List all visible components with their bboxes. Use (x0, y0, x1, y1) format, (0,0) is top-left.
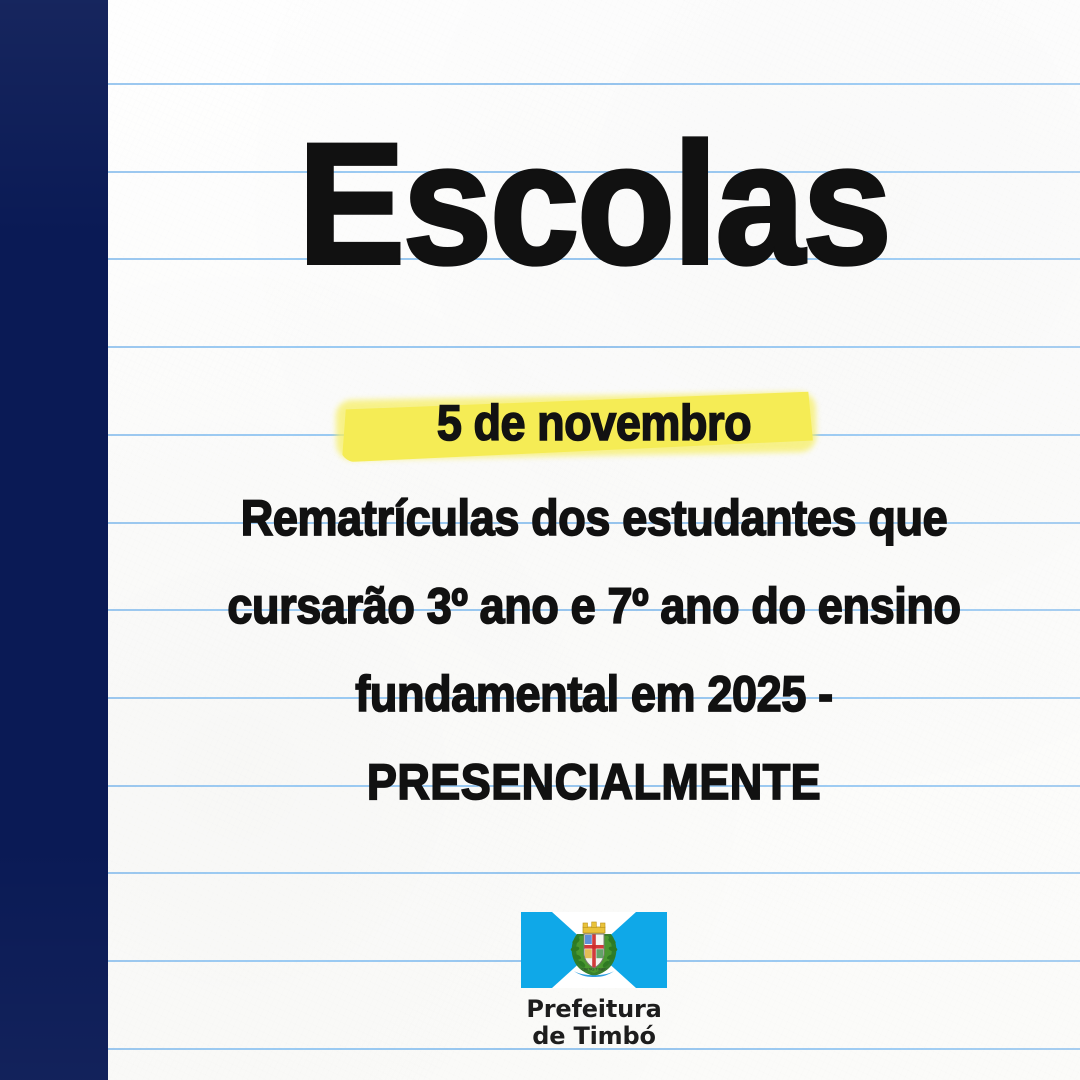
logo-crown (583, 922, 605, 933)
prefeitura-logo-mark: CIVITAS TIMBO (521, 912, 667, 988)
poster-canvas: Escolas 5 de novembro Rematrículas dos e… (0, 0, 1080, 1080)
page-title: Escolas (142, 118, 1046, 290)
announcement-body: Rematrículas dos estudantes quecursarão … (108, 474, 1080, 826)
poster-content: Escolas 5 de novembro Rematrículas dos e… (108, 0, 1080, 1080)
announcement-body-line: Rematrículas dos estudantes que (157, 474, 1032, 562)
logo-caption-line-1: Prefeitura (526, 996, 661, 1023)
announcement-body-line: PRESENCIALMENTE (157, 738, 1032, 826)
announcement-body-line: fundamental em 2025 - (157, 650, 1032, 738)
navy-side-bar (0, 0, 108, 1080)
svg-text:CIVITAS TIMBO: CIVITAS TIMBO (582, 968, 607, 972)
date-badge-label: 5 de novembro (157, 392, 1032, 454)
logo-caption-line-2: de Timbó (526, 1023, 661, 1050)
prefeitura-logo: CIVITAS TIMBO Prefeitura de Timbó (108, 912, 1080, 1050)
announcement-body-line: cursarão 3º ano e 7º ano do ensino (157, 562, 1032, 650)
prefeitura-logo-caption: Prefeitura de Timbó (526, 996, 661, 1050)
date-badge: 5 de novembro (108, 386, 1080, 466)
navy-side-bar-sheen (0, 0, 108, 1080)
